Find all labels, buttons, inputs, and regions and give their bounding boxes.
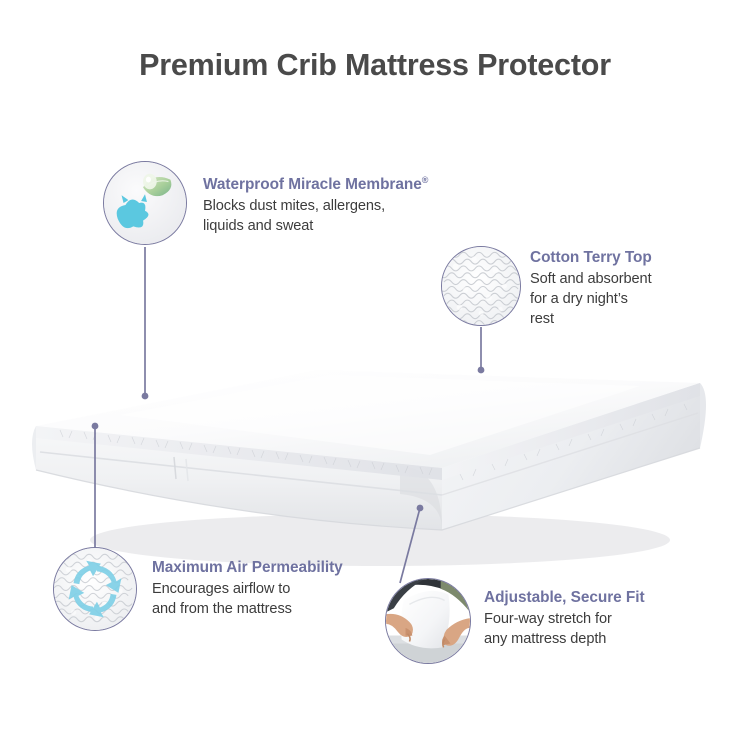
mattress-pleat-2 (186, 459, 188, 481)
connector-dot-terry (478, 367, 485, 374)
feature-body-waterproof: Blocks dust mites, allergens, liquids an… (203, 197, 428, 237)
connector-dot-fit (417, 505, 424, 512)
terry-cloth-texture-icon (441, 246, 521, 326)
mattress-top-highlight (120, 375, 640, 455)
mattress-pleat-1 (174, 457, 176, 479)
mattress-terry-band-right (442, 383, 700, 480)
mattress-terry-band (36, 426, 442, 480)
mattress-top-surface (36, 370, 700, 468)
feature-heading-air: Maximum Air Permeability (152, 558, 343, 577)
mattress-bottom-edge (36, 448, 700, 530)
connector-dot-air (92, 423, 99, 430)
feature-heading-fit: Adjustable, Secure Fit (484, 588, 645, 607)
mattress-front-right-panel (442, 383, 700, 530)
connector-dot-waterproof (142, 393, 149, 400)
air-circulation-arrows-icon (53, 547, 137, 631)
connector-dots (92, 367, 485, 512)
mattress-body (32, 370, 706, 530)
feature-body-fit: Four-way stretch for any mattress depth (484, 610, 645, 650)
feature-heading-terry: Cotton Terry Top (530, 248, 652, 267)
water-droplet-leaf-icon (103, 161, 187, 245)
page-title: Premium Crib Mattress Protector (0, 48, 750, 83)
connector-fit (400, 508, 420, 583)
mattress-front-left-panel (36, 426, 442, 530)
mattress-right-corner (700, 383, 706, 448)
hands-fitting-protector-icon (385, 578, 471, 664)
mattress-front-corner-shade (400, 466, 442, 530)
feature-text-fit: Adjustable, Secure Fit Four-way stretch … (484, 588, 645, 650)
terry-texture-strokes (60, 404, 687, 480)
feature-body-terry: Soft and absorbent for a dry night’s res… (530, 270, 652, 330)
registered-trademark-mark: ® (422, 175, 429, 185)
connector-lines (95, 247, 481, 583)
mattress-left-corner (32, 426, 36, 470)
mattress-seam-line (40, 452, 442, 495)
feature-text-air: Maximum Air Permeability Encourages airf… (152, 558, 343, 620)
mattress-seam-line-right (442, 413, 698, 495)
feature-heading-waterproof: Waterproof Miracle Membrane® (203, 175, 428, 194)
feature-text-waterproof: Waterproof Miracle Membrane® Blocks dust… (203, 175, 428, 237)
feature-body-air: Encourages airflow to and from the mattr… (152, 580, 343, 620)
infographic-canvas: Premium Crib Mattress Protector (0, 0, 750, 750)
feature-text-terry: Cotton Terry Top Soft and absorbent for … (530, 248, 652, 330)
